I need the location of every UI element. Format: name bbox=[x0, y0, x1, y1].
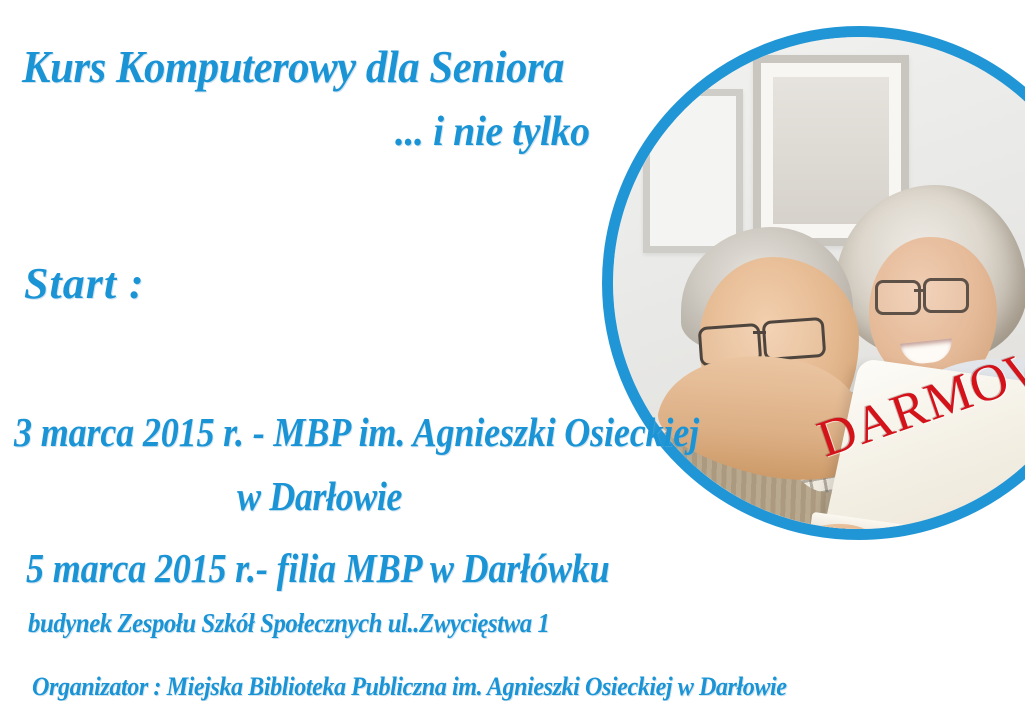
start-label: Start : bbox=[24, 258, 145, 309]
date-entry-1-sub: w Darłowie bbox=[237, 472, 402, 520]
poster-title-line-2: ... i nie tylko bbox=[395, 108, 590, 156]
circular-photo-frame bbox=[602, 26, 1025, 540]
organizer-line: Organizator : Miejska Biblioteka Publicz… bbox=[32, 672, 787, 702]
woman-glasses-bridge bbox=[914, 289, 925, 292]
wall-picture-artwork bbox=[773, 77, 889, 224]
poster-title-line-1: Kurs Komputerowy dla Seniora bbox=[22, 40, 564, 93]
woman-glasses-right-lens bbox=[923, 278, 969, 313]
wall-picture-frame-left bbox=[643, 89, 743, 253]
man-glasses-right-lens bbox=[762, 317, 827, 361]
date-entry-1-main: 3 marca 2015 r. - MBP im. Agnieszki Osie… bbox=[14, 408, 699, 456]
date-entry-2-sub: budynek Zespołu Szkół Społecznych ul..Zw… bbox=[28, 608, 549, 639]
woman-glasses-left-lens bbox=[875, 280, 921, 315]
man-glasses-bridge bbox=[753, 331, 766, 334]
poster-canvas: Kurs Komputerowy dla Seniora ... i nie t… bbox=[0, 0, 1025, 720]
date-entry-2-main: 5 marca 2015 r.- filia MBP w Darłówku bbox=[26, 544, 610, 592]
